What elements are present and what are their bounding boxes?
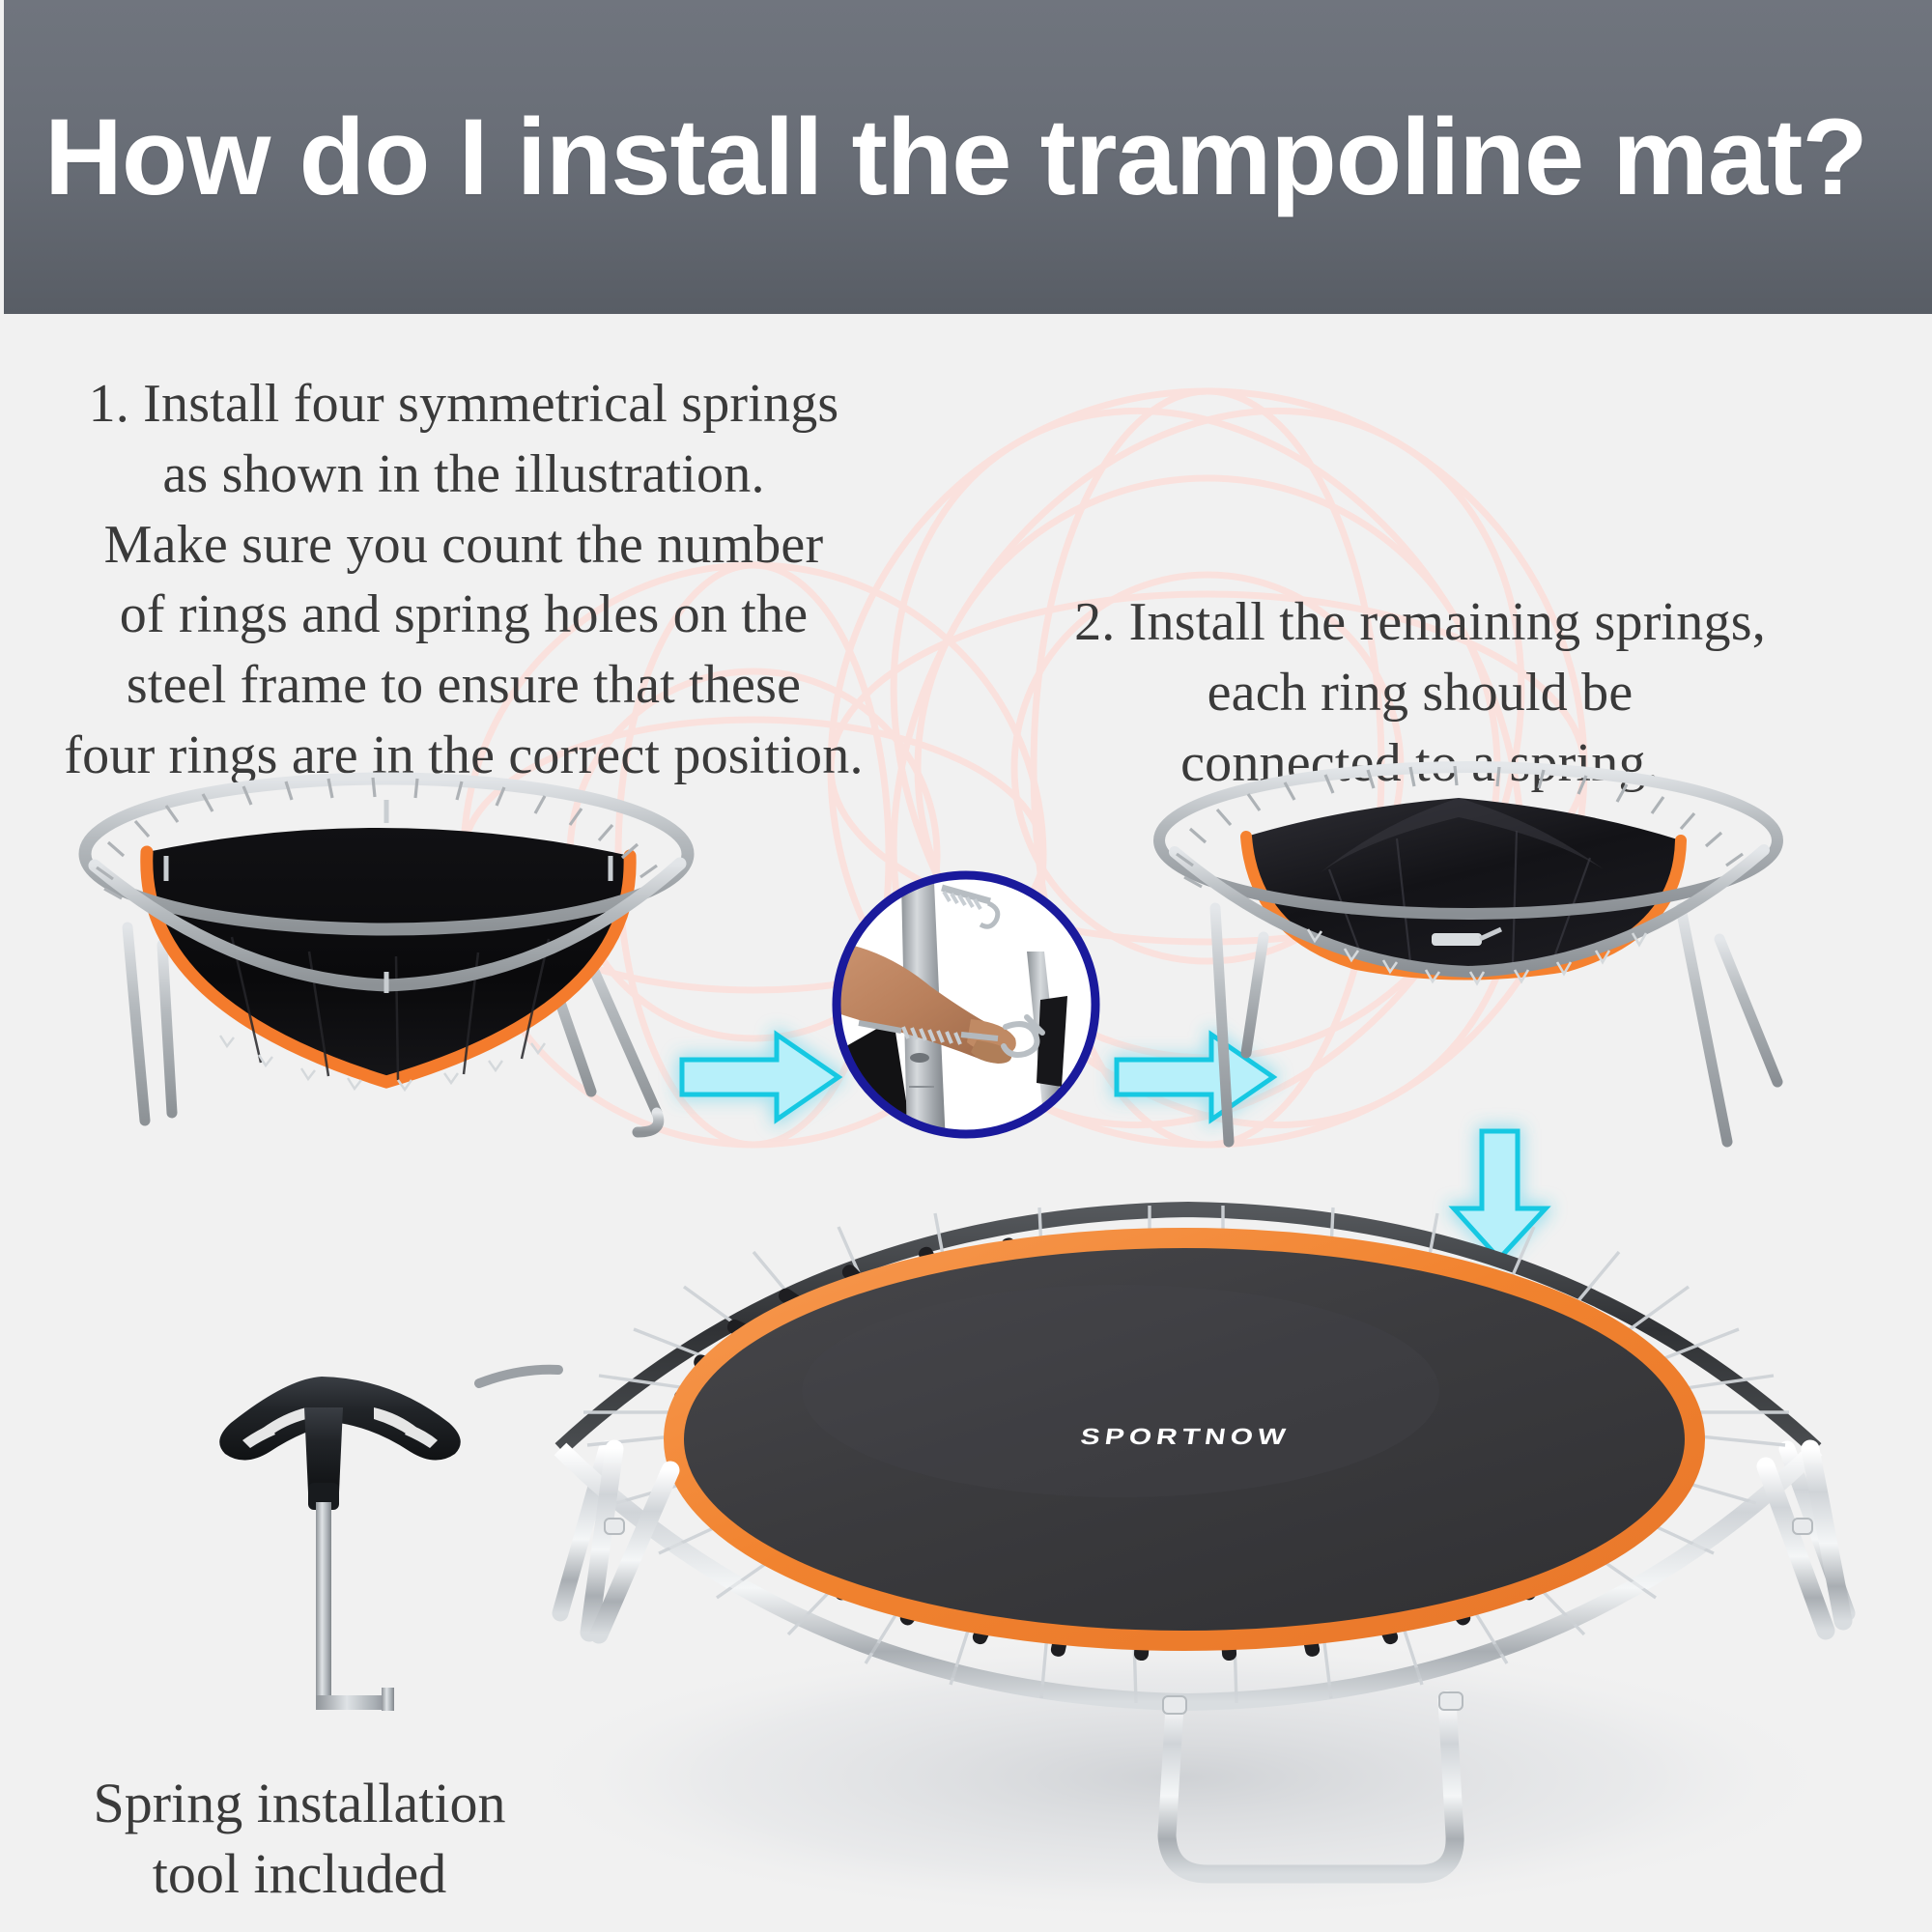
step-1-line-5: steel frame to ensure that these [10, 650, 918, 721]
spring-attachment-photo [826, 865, 1106, 1145]
tool-caption-line-1: Spring installation [10, 1768, 589, 1838]
step-2-line-2: each ring should be [1005, 658, 1835, 728]
sportnow-logo: SPORTNOW [1079, 1424, 1292, 1449]
step-1-line-4: of rings and spring holes on the [10, 580, 918, 650]
spring-installation-tool [169, 1348, 478, 1753]
tool-caption: Spring installation tool included [10, 1768, 589, 1909]
step2-trampoline-illustration [1101, 763, 1816, 1150]
step-1-line-2: as shown in the illustration. [10, 440, 918, 510]
infographic-page: How do I install the trampoline mat? 1. … [0, 0, 1932, 1932]
assembled-trampoline-render: SPORTNOW [444, 1159, 1922, 1932]
header-banner: How do I install the trampoline mat? [4, 0, 1932, 314]
arrow-right-1-icon [676, 1019, 845, 1135]
tool-caption-line-2: tool included [10, 1838, 589, 1909]
svg-text:SPORTNOW: SPORTNOW [1079, 1424, 1292, 1449]
step-1-instructions: 1. Install four symmetrical springs as s… [10, 369, 918, 791]
step-1-line-3: Make sure you count the number [10, 510, 918, 581]
page-title: How do I install the trampoline mat? [44, 103, 1867, 212]
step-2-line-1: 2. Install the remaining springs, [1005, 587, 1835, 658]
step1-trampoline-illustration [39, 773, 734, 1159]
step-1-line-1: 1. Install four symmetrical springs [10, 369, 918, 440]
